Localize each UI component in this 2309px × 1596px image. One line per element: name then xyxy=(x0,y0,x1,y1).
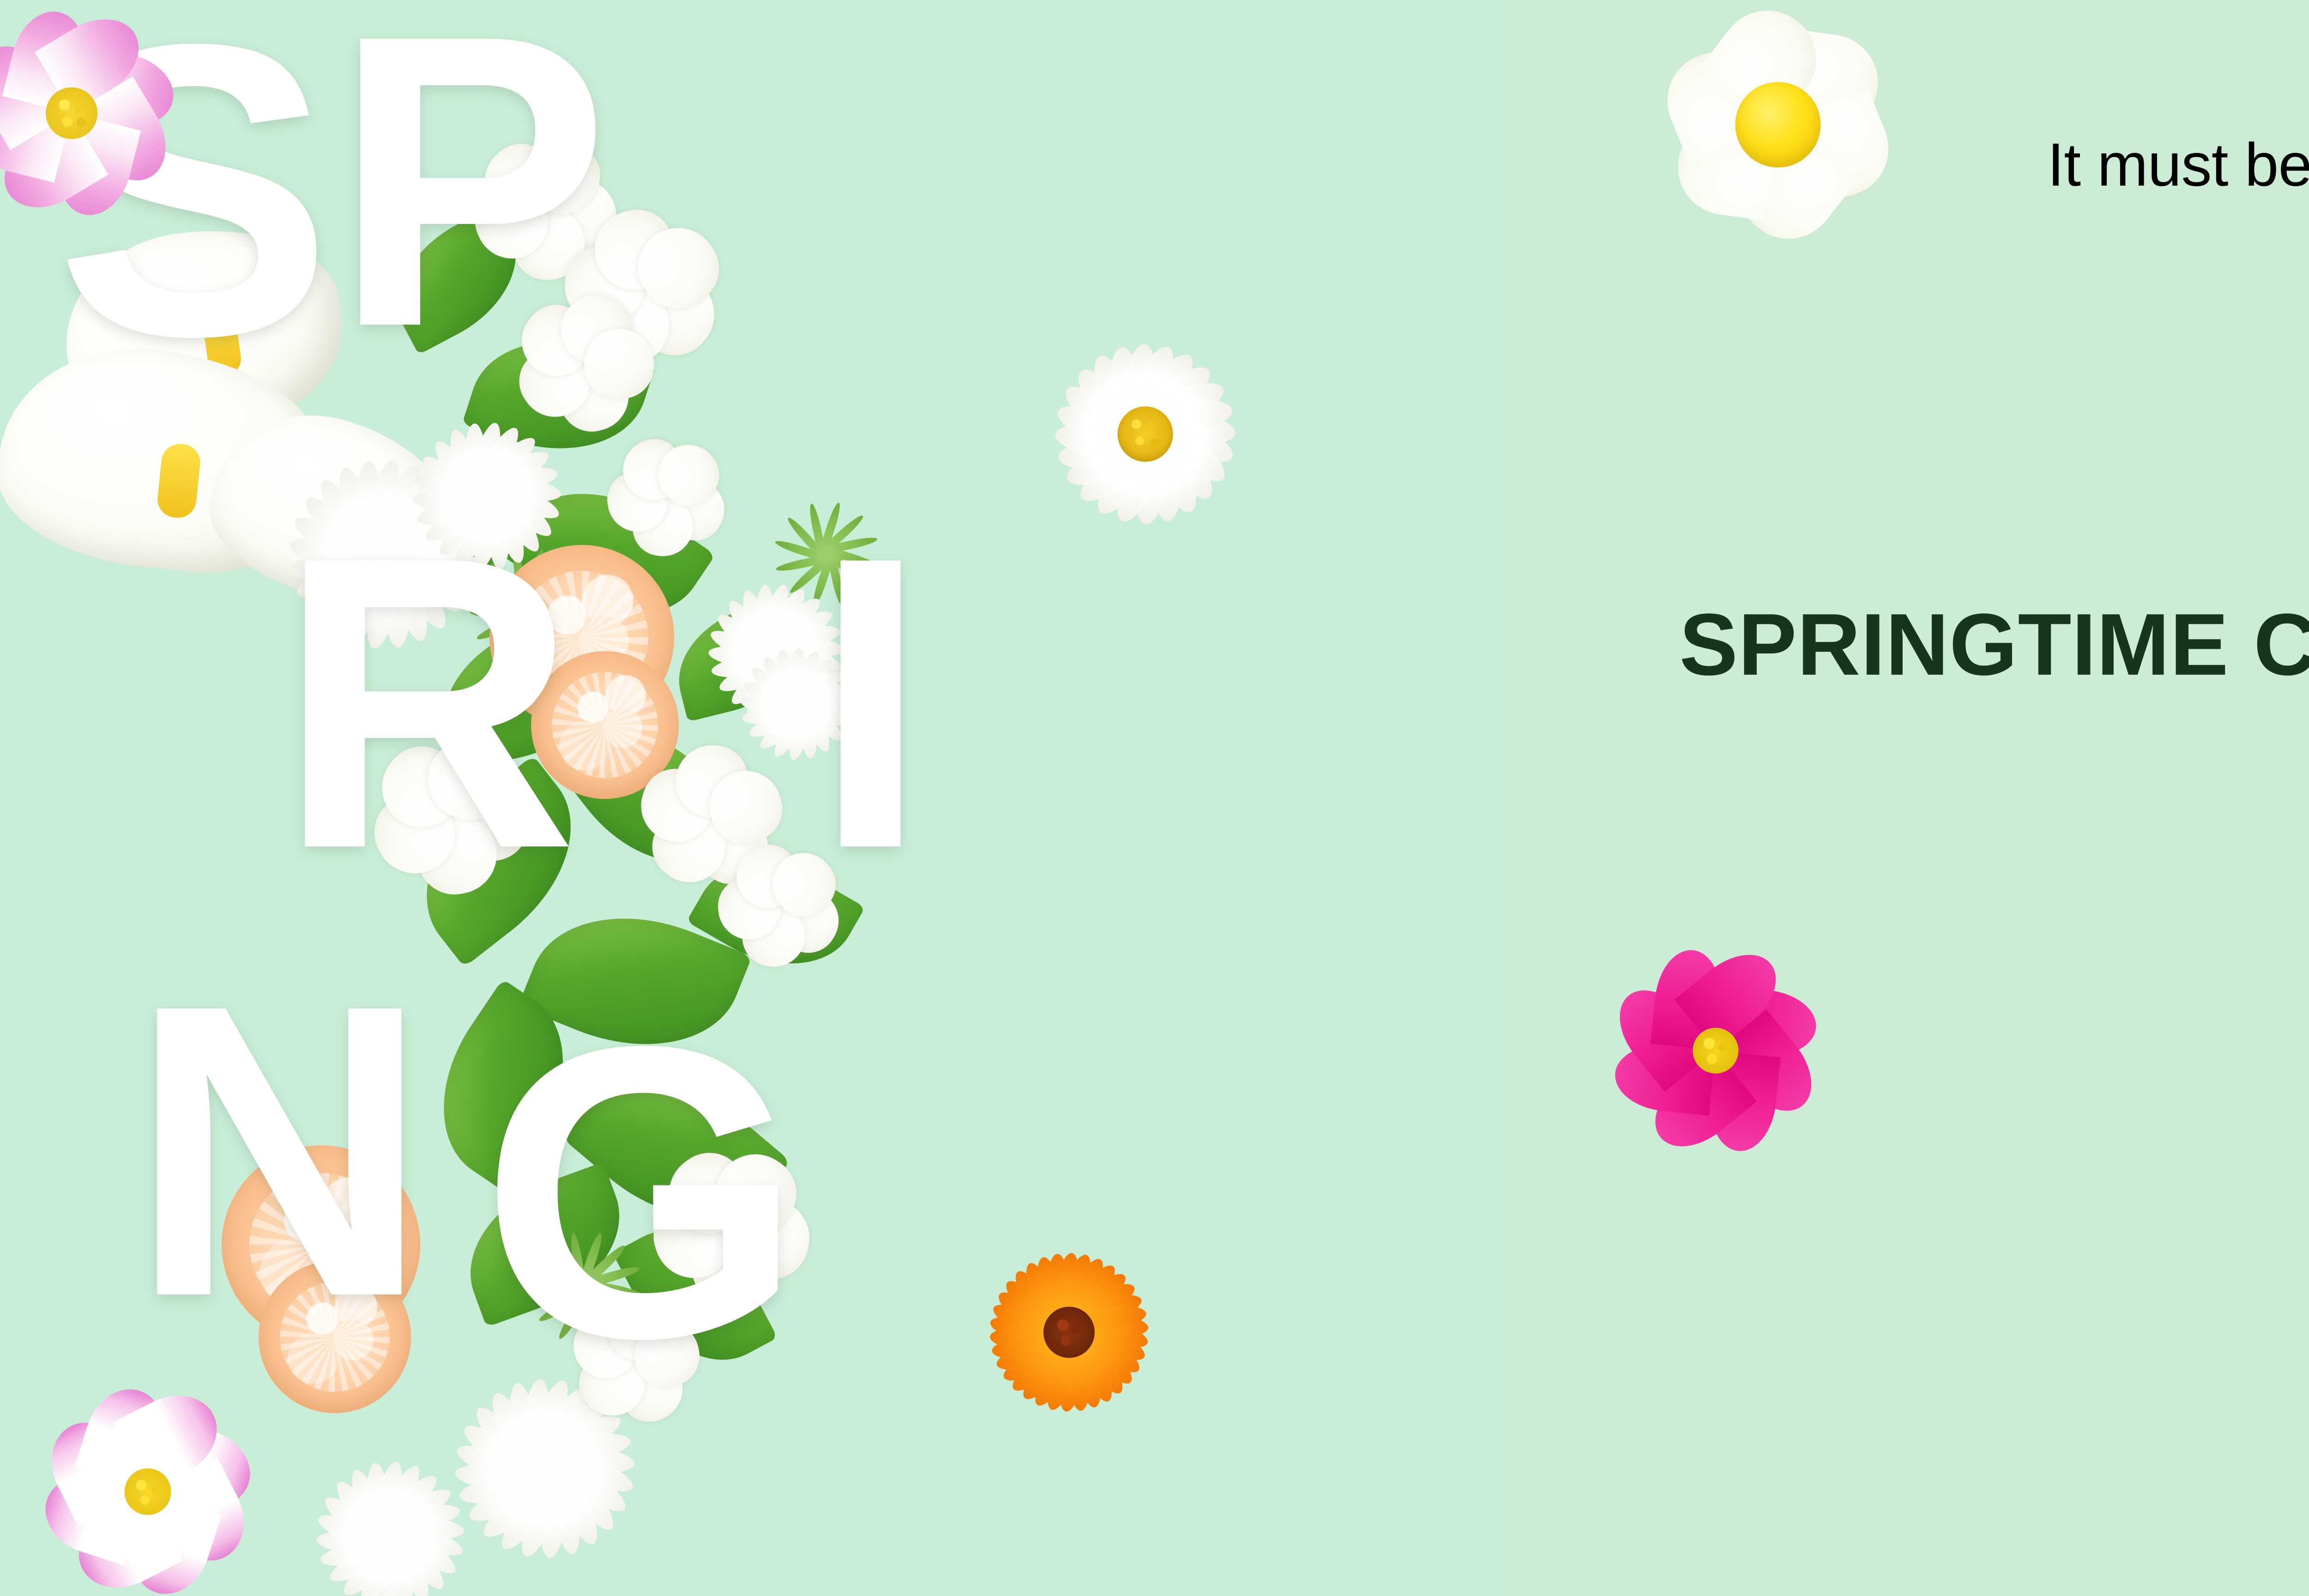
cosmos-white-bottom-left xyxy=(51,1395,245,1589)
presenter-line: With Life Love Cheese xyxy=(1125,903,2309,979)
bouquet-jasmine-3 xyxy=(610,439,725,554)
bouquet-jasmine-6 xyxy=(720,845,840,965)
flower-bouquet xyxy=(323,79,1016,1524)
bouquet-daisy-3 xyxy=(739,647,854,762)
daisy-upper-center xyxy=(1053,342,1238,526)
cosmos-pink-top-left xyxy=(0,14,171,212)
event-banner: SPRING Spring is in the Air It must be t… xyxy=(0,0,2309,1596)
daisy-white-center xyxy=(1118,406,1173,462)
cosmos-magenta-center xyxy=(1693,1028,1739,1074)
bouquet-jasmine-4 xyxy=(374,739,526,891)
event-price: $65 xyxy=(1125,1364,2309,1464)
bouquet-jasmine-7 xyxy=(656,1150,808,1302)
cosmos-pink-center xyxy=(46,87,97,139)
calendula-center xyxy=(1044,1307,1095,1358)
cosmos-magenta-center xyxy=(1616,951,1815,1150)
cosmos-white-center xyxy=(125,1469,171,1515)
event-date: FRIDAY, APRIL 17 xyxy=(1125,1164,2309,1264)
event-time: 6:30PM xyxy=(1125,1264,2309,1364)
bouquet-carnation-3 xyxy=(259,1261,411,1413)
bouquet-jasmine-2 xyxy=(517,296,651,429)
bouquet-daisy-1 xyxy=(411,420,563,573)
bouquet-daisy-5 xyxy=(314,1459,466,1596)
tagline: Spring is in the Air It must be time for… xyxy=(1265,50,2309,204)
event-headline: SPRINGTIME CHEESE TASTING & WINE SAMPLIN… xyxy=(1125,594,2309,798)
bouquet-jasmine-8 xyxy=(573,1298,697,1422)
event-details: FRIDAY, APRIL 17 6:30PM $65 xyxy=(1125,1164,2309,1464)
